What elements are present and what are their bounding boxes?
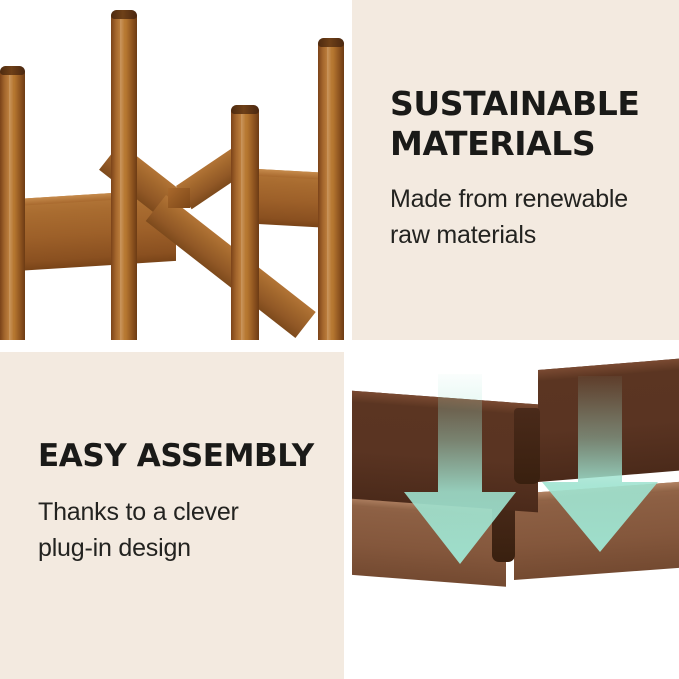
stand-leg-front-left [231, 105, 259, 340]
easy-assembly-heading: EASY ASSEMBLY [38, 438, 326, 476]
joint-lower-rail-right [514, 481, 679, 580]
stand-leg-back-right [111, 10, 137, 340]
stand-leg-back-left [0, 66, 25, 340]
plug-in-joint-photo [352, 352, 679, 679]
panel-sustainable-materials: SUSTAINABLE MATERIALS Made from renewabl… [352, 0, 679, 340]
joint-tenon-upper [514, 408, 540, 484]
stand-leg-front-right [318, 38, 344, 340]
easy-assembly-body: Thanks to a clever plug-in design [38, 494, 326, 567]
joint-upper-rail-right [538, 358, 679, 482]
sustainable-materials-body: Made from renewable raw materials [390, 181, 661, 254]
sustainable-materials-heading: SUSTAINABLE MATERIALS [390, 84, 661, 165]
panel-plug-in-joint-photo [352, 352, 679, 679]
panel-wood-stand-photo [0, 0, 344, 340]
rail-top-edge [538, 358, 679, 381]
sustainable-materials-text-block: SUSTAINABLE MATERIALS Made from renewabl… [390, 84, 661, 254]
rail-top-edge [514, 481, 679, 503]
product-feature-infographic: SUSTAINABLE MATERIALS Made from renewabl… [0, 0, 679, 679]
stand-cross-joint [168, 188, 190, 208]
joint-lower-rail-left [352, 496, 506, 587]
easy-assembly-text-block: EASY ASSEMBLY Thanks to a clever plug-in… [38, 438, 326, 567]
panel-easy-assembly: EASY ASSEMBLY Thanks to a clever plug-in… [0, 352, 344, 679]
joint-upper-rail-left [352, 390, 538, 512]
rail-top-edge [352, 390, 538, 415]
wood-stand-photo [0, 0, 344, 340]
